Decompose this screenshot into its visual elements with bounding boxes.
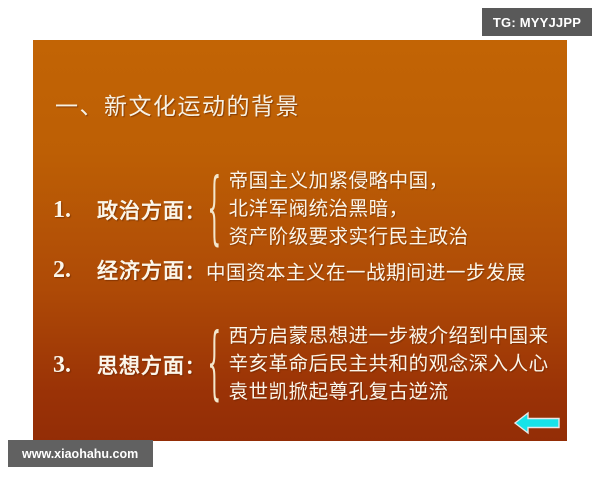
- item-3-line-2: 辛亥革命后民主共和的观念深入人心: [229, 351, 549, 379]
- item-1-label: 政治方面: [97, 195, 185, 225]
- item-1-colon: ：: [185, 197, 204, 224]
- presentation-slide: 一、新文化运动的背景 1. 政治方面 ： { 帝国主义加紧侵略中国， 北洋军阀统…: [33, 40, 567, 441]
- item-3-content: 西方启蒙思想进一步被介绍到中国来 辛亥革命后民主共和的观念深入人心 袁世凯掀起尊…: [224, 323, 549, 407]
- item-2-colon: ：: [185, 257, 204, 284]
- item-3-number: 3.: [53, 352, 97, 379]
- item-3-line-3: 袁世凯掀起尊孔复古逆流: [229, 379, 549, 407]
- item-3-label: 思想方面: [97, 350, 185, 380]
- slide-item-2: 2. 经济方面 ： 中国资本主义在一战期间进一步发展: [53, 255, 526, 285]
- item-3-line-1: 西方启蒙思想进一步被介绍到中国来: [229, 323, 549, 351]
- item-1-line-3: 资产阶级要求实行民主政治: [229, 224, 469, 252]
- item-1-number: 1.: [53, 197, 97, 224]
- item-1-line-2: 北洋军阀统治黑暗，: [229, 196, 469, 224]
- item-1-content: 帝国主义加紧侵略中国， 北洋军阀统治黑暗， 资产阶级要求实行民主政治: [224, 168, 469, 252]
- item-2-number: 2.: [53, 257, 97, 284]
- item-2-line-1: 中国资本主义在一战期间进一步发展: [204, 256, 526, 285]
- slide-item-3: 3. 思想方面 ： { 西方启蒙思想进一步被介绍到中国来 辛亥革命后民主共和的观…: [53, 323, 549, 407]
- slide-item-1: 1. 政治方面 ： { 帝国主义加紧侵略中国， 北洋军阀统治黑暗， 资产阶级要求…: [53, 168, 469, 252]
- item-2-label: 经济方面: [97, 255, 185, 285]
- telegram-watermark-badge: TG: MYYJJPP: [482, 8, 592, 36]
- item-1-line-1: 帝国主义加紧侵略中国，: [229, 168, 469, 196]
- site-watermark-badge: www.xiaohahu.com: [8, 440, 153, 467]
- slide-title: 一、新文化运动的背景: [55, 87, 300, 121]
- back-arrow-icon[interactable]: [513, 410, 561, 436]
- item-3-colon: ：: [185, 352, 204, 379]
